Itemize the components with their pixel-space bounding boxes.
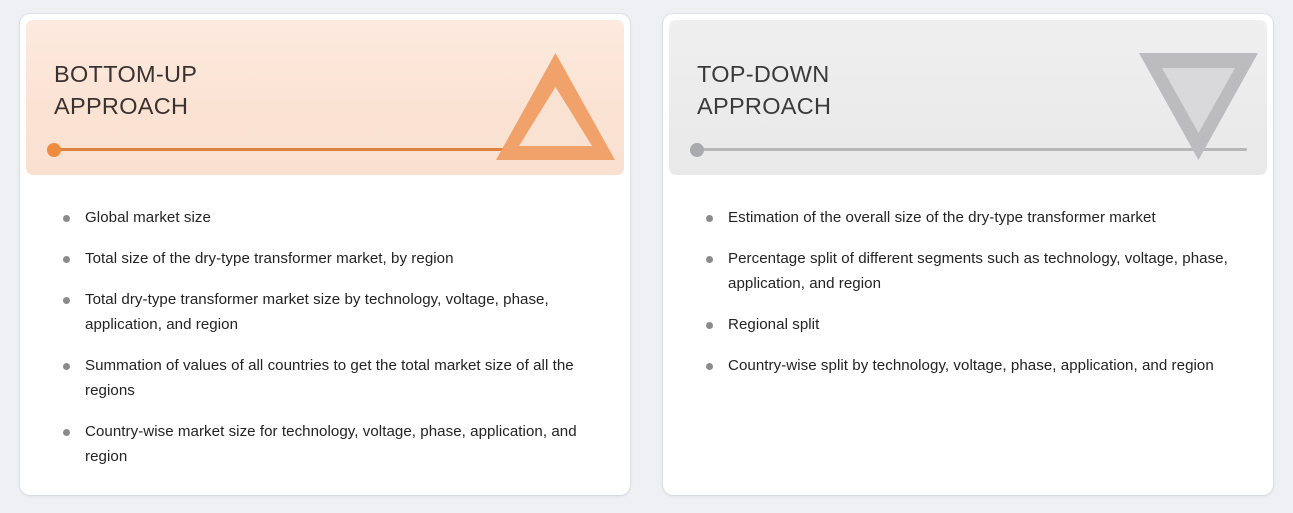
list-item: Total size of the dry-type transformer m… — [54, 246, 598, 271]
bullet-dot-icon — [706, 256, 713, 263]
list-item-label: Estimation of the overall size of the dr… — [728, 209, 1156, 226]
bullet-dot-icon — [706, 363, 713, 370]
list-item-label: Global market size — [85, 209, 211, 226]
page-title-top-down: TOP-DOWN APPROACH — [697, 58, 831, 122]
bullet-dot-icon — [63, 429, 70, 436]
accent-rule-top-down — [697, 148, 1247, 151]
list-item-label: Regional split — [728, 316, 819, 333]
accent-dot-bottom-up — [47, 143, 61, 157]
bullet-dot-icon — [706, 215, 713, 222]
list-item-label: Total size of the dry-type transformer m… — [85, 250, 454, 267]
list-item-label: Percentage split of different segments s… — [728, 250, 1228, 292]
bullet-dot-icon — [63, 256, 70, 263]
list-item-label: Summation of values of all countries to … — [85, 357, 574, 399]
bullet-dot-icon — [706, 322, 713, 329]
list-item-label: Country-wise split by technology, voltag… — [728, 357, 1214, 374]
list-item: Summation of values of all countries to … — [54, 353, 598, 403]
list-item: Percentage split of different segments s… — [697, 246, 1241, 296]
list-item: Global market size — [54, 205, 598, 230]
list-item: Total dry-type transformer market size b… — [54, 287, 598, 337]
list-item-label: Total dry-type transformer market size b… — [85, 291, 549, 333]
card-header-top-down: TOP-DOWN APPROACH — [669, 20, 1267, 175]
accent-rule-bottom-up — [54, 148, 604, 151]
card-top-down-approach: TOP-DOWN APPROACH Estimation of the over… — [663, 14, 1273, 495]
list-item-label: Country-wise market size for technology,… — [85, 423, 577, 465]
card-bottom-up-approach: BOTTOM-UP APPROACH Global market size To… — [20, 14, 630, 495]
bullet-list-bottom-up: Global market size Total size of the dry… — [54, 205, 598, 469]
bullet-dot-icon — [63, 363, 70, 370]
card-body-bottom-up: Global market size Total size of the dry… — [26, 175, 624, 489]
bullet-dot-icon — [63, 297, 70, 304]
list-item: Country-wise split by technology, voltag… — [697, 353, 1241, 378]
list-item: Estimation of the overall size of the dr… — [697, 205, 1241, 230]
card-header-bottom-up: BOTTOM-UP APPROACH — [26, 20, 624, 175]
bullet-dot-icon — [63, 215, 70, 222]
page-title-bottom-up: BOTTOM-UP APPROACH — [54, 58, 197, 122]
accent-dot-top-down — [690, 143, 704, 157]
list-item: Regional split — [697, 312, 1241, 337]
card-body-top-down: Estimation of the overall size of the dr… — [669, 175, 1267, 489]
list-item: Country-wise market size for technology,… — [54, 419, 598, 469]
approach-comparison-board: BOTTOM-UP APPROACH Global market size To… — [0, 0, 1293, 513]
bullet-list-top-down: Estimation of the overall size of the dr… — [697, 205, 1241, 378]
